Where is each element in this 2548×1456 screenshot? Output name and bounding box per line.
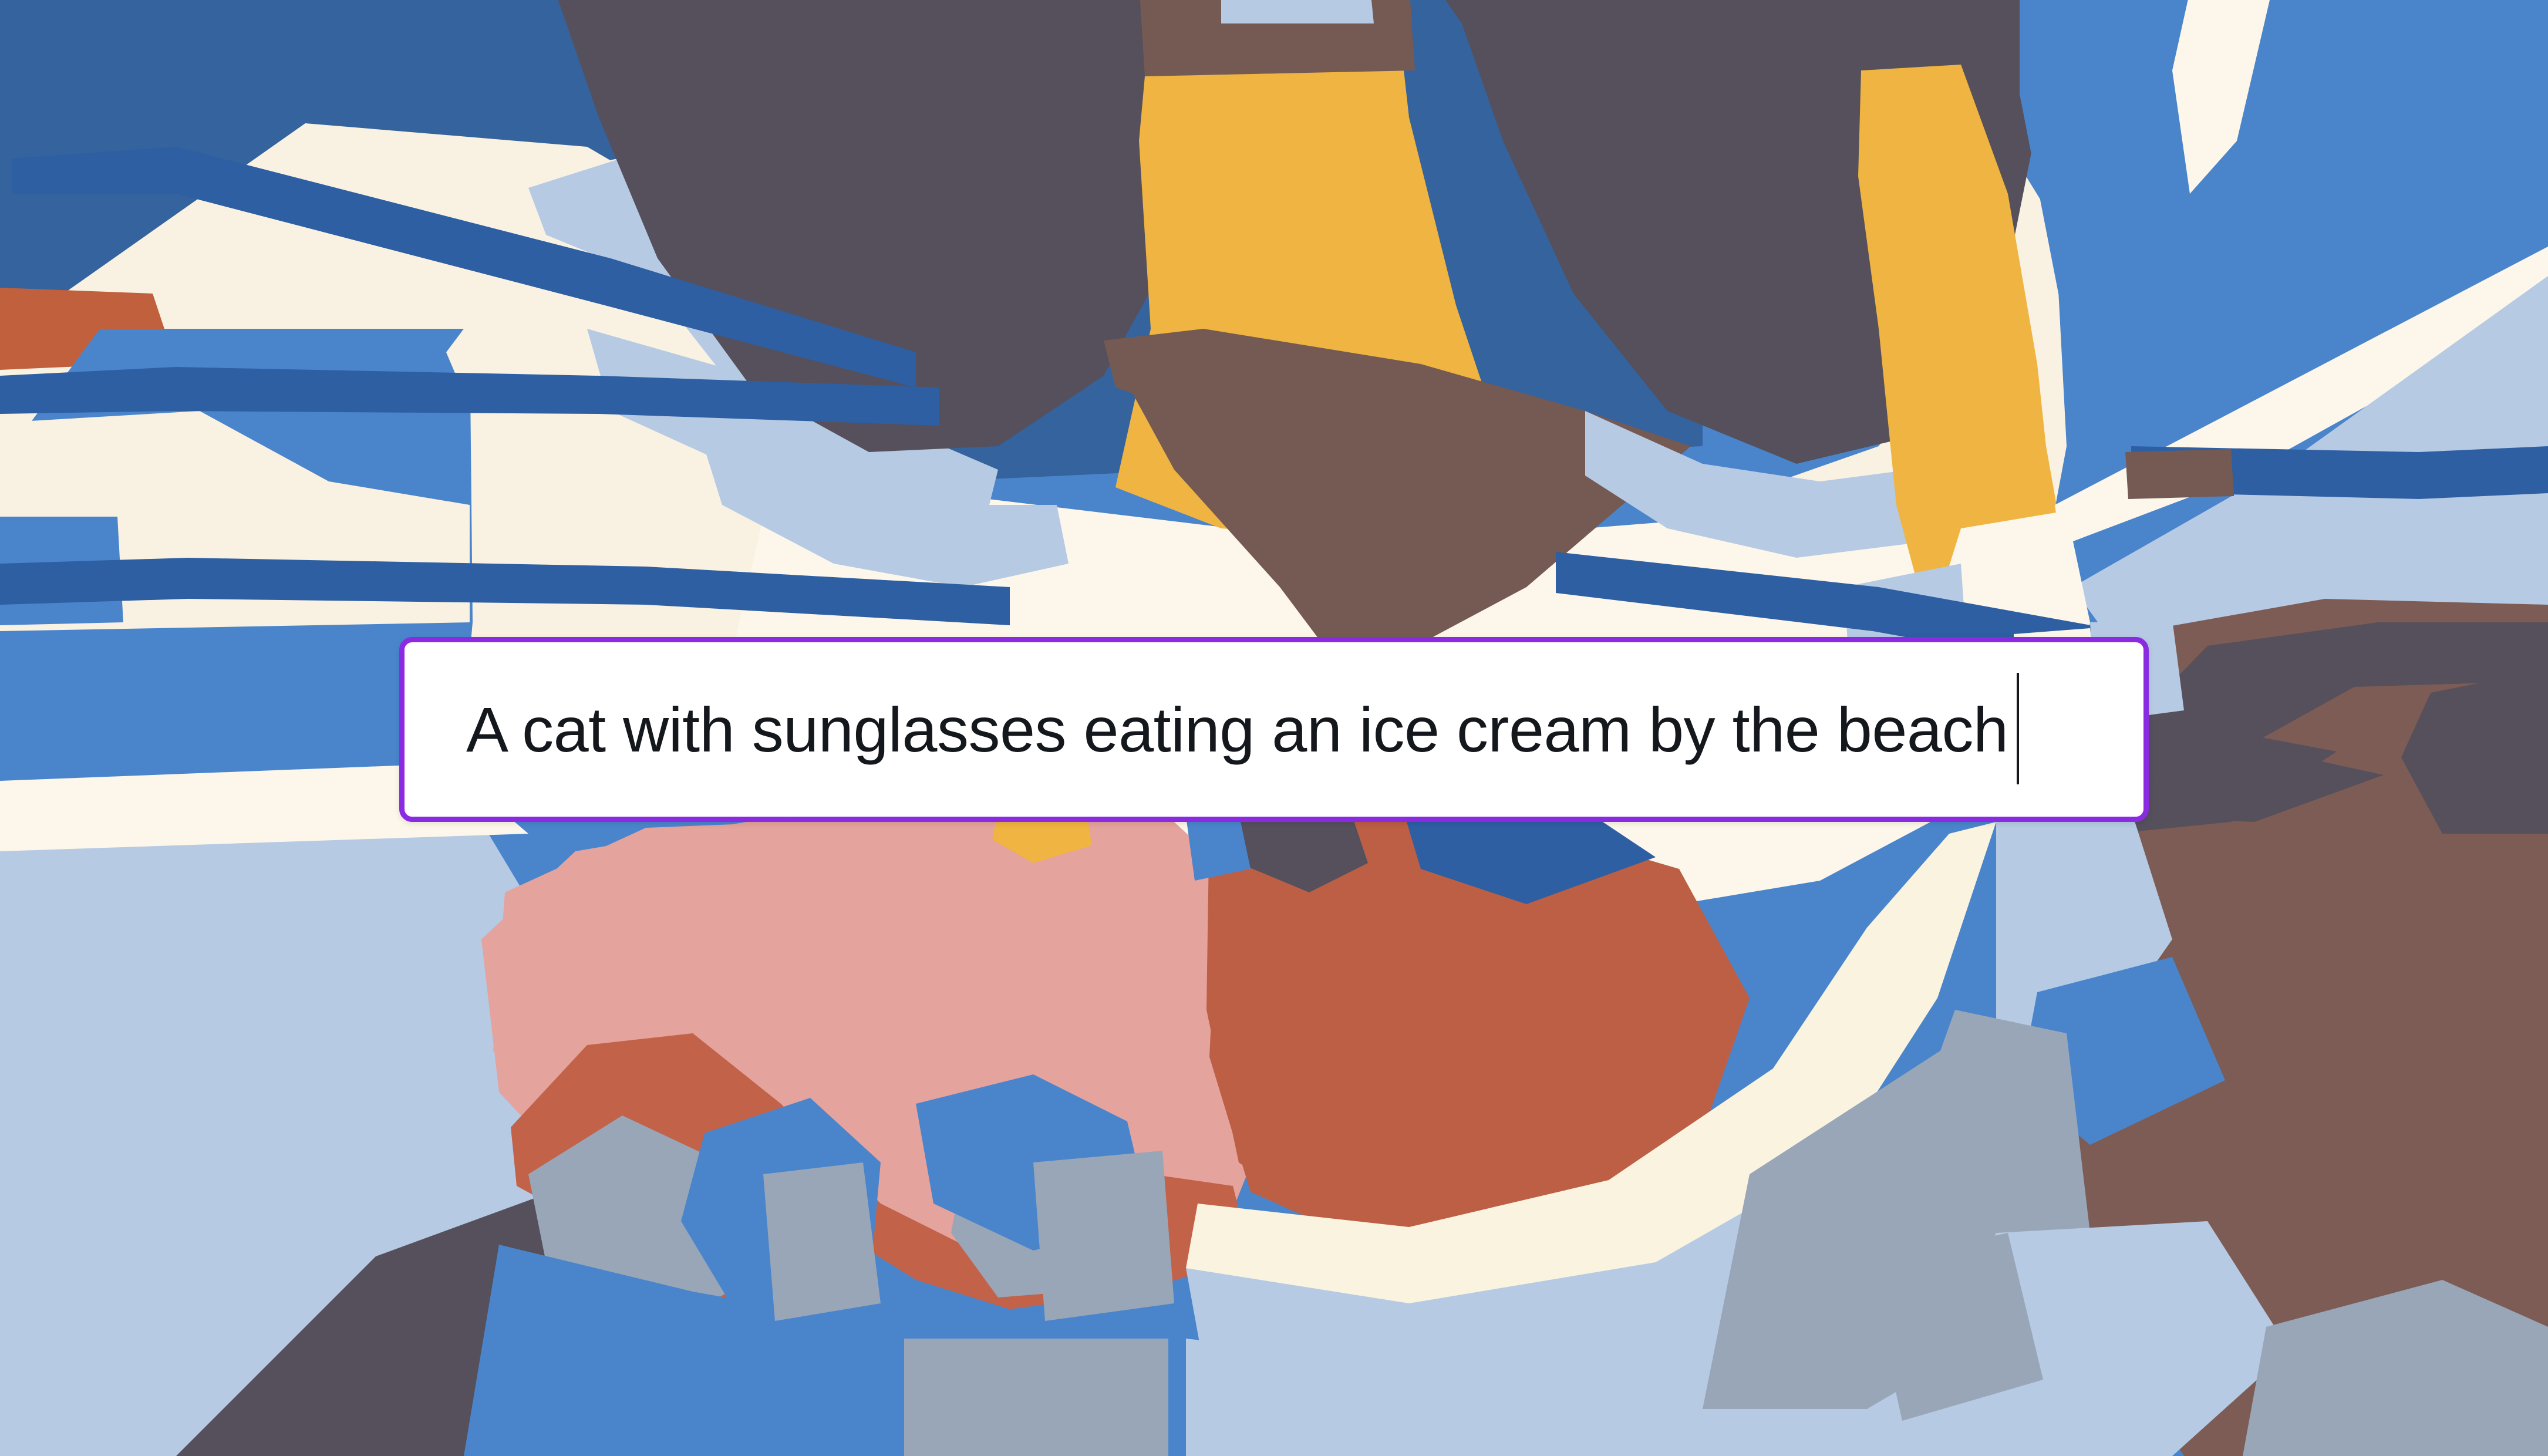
prompt-input[interactable]: A cat with sunglasses eating an ice crea… bbox=[399, 637, 2149, 822]
screenshot-canvas: A cat with sunglasses eating an ice crea… bbox=[0, 0, 2548, 1456]
text-caret bbox=[2017, 673, 2019, 784]
prompt-input-value: A cat with sunglasses eating an ice crea… bbox=[466, 698, 2008, 761]
